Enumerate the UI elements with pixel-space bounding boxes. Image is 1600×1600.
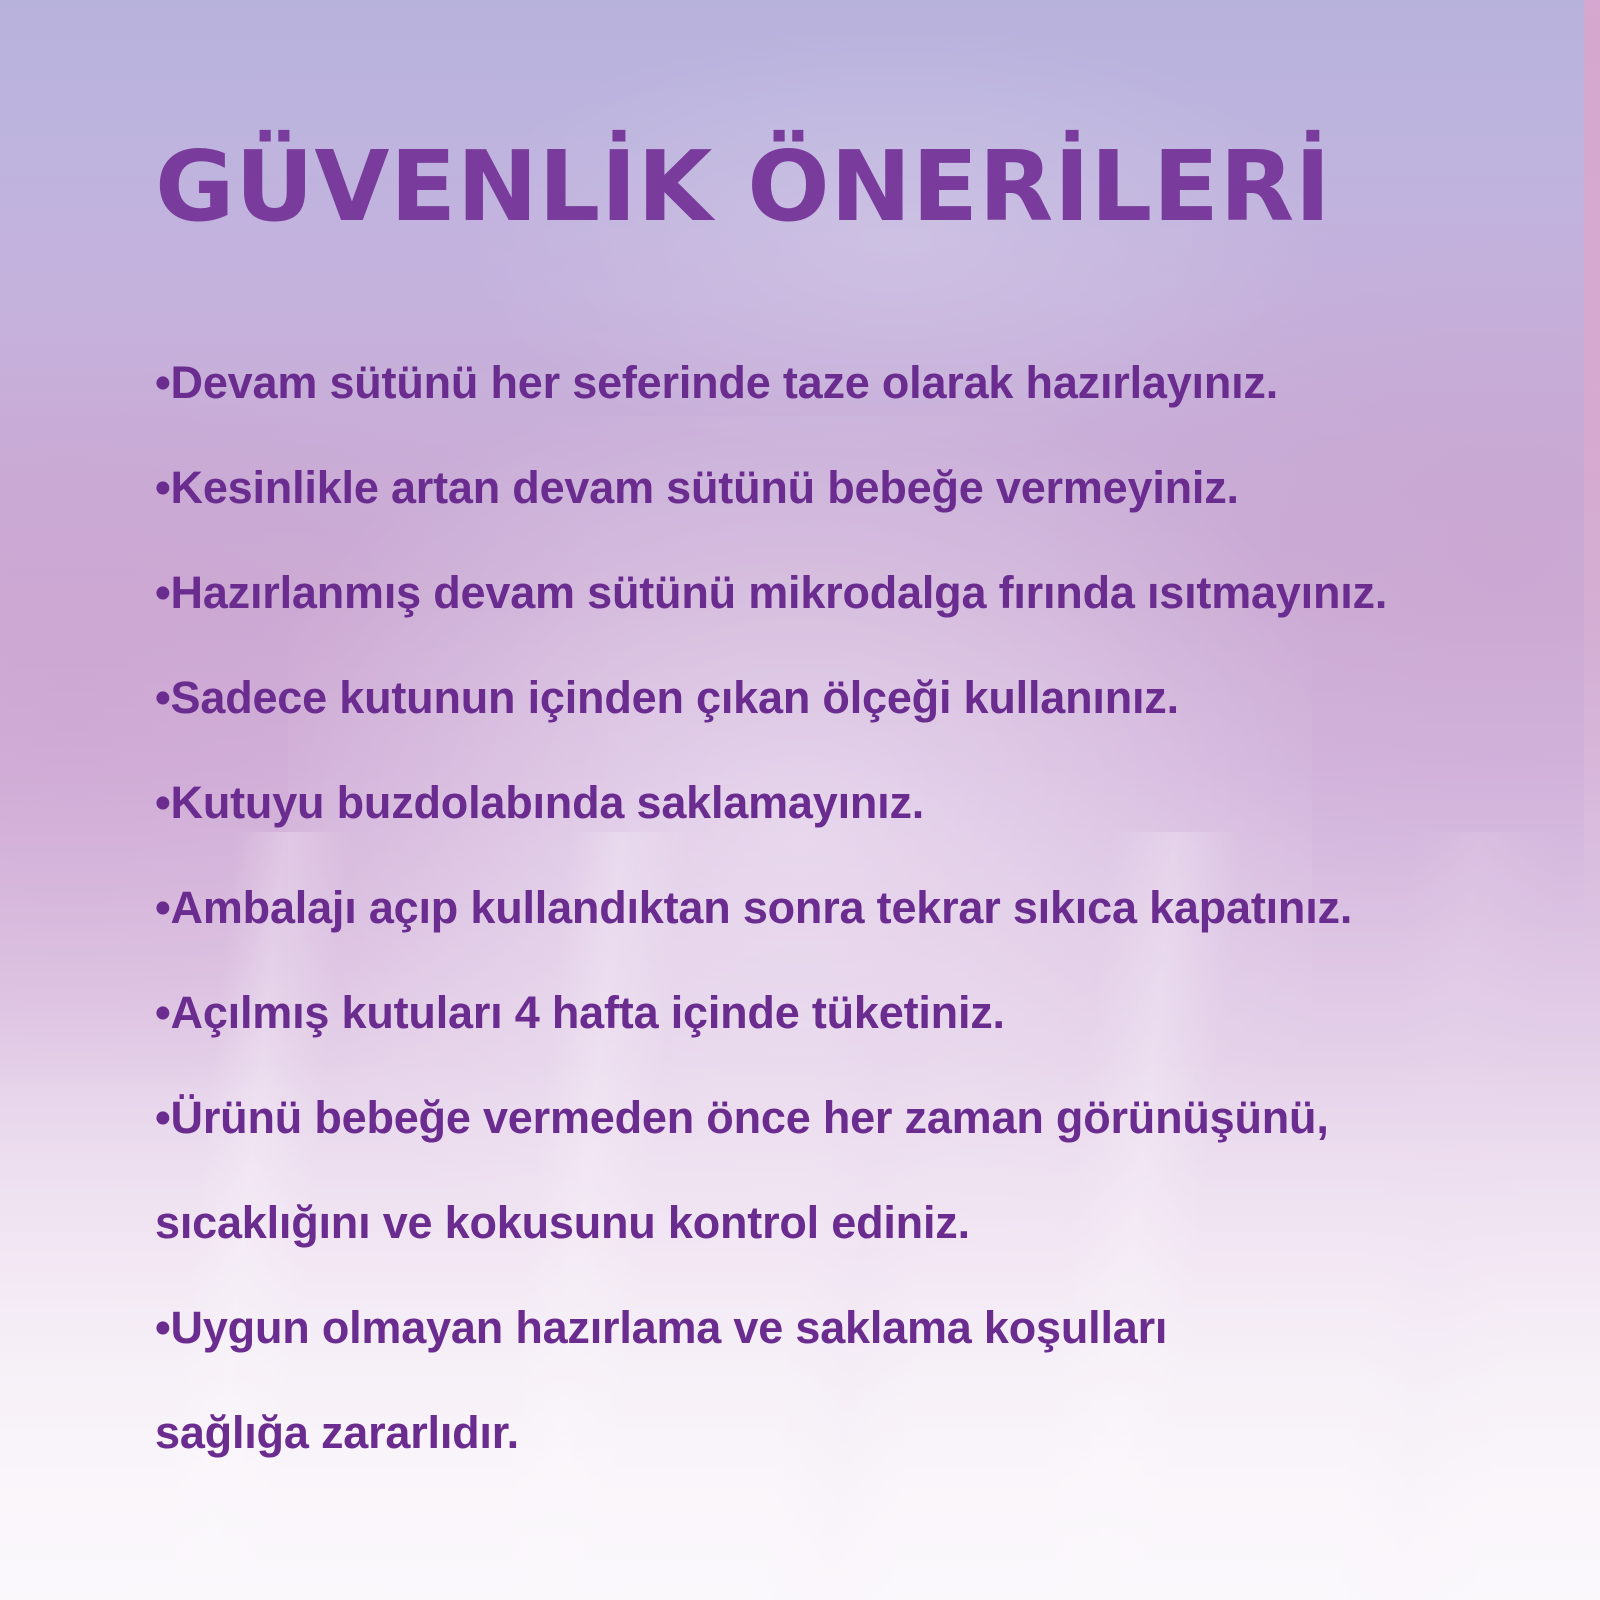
- list-item: •Ürünü bebeğe vermeden önce her zaman gö…: [0, 1065, 1600, 1170]
- list-item: •Hazırlanmış devam sütünü mikrodalga fır…: [0, 540, 1600, 645]
- bullet-continuation-line: sağlığa zararlıdır.: [0, 1380, 1600, 1485]
- bullet-text: •Sadece kutunun içinden çıkan ölçeği kul…: [155, 673, 1179, 723]
- bullet-continuation-line: sıcaklığını ve kokusunu kontrol ediniz.: [0, 1170, 1600, 1275]
- bullet-text: •Ambalajı açıp kullandıktan sonra tekrar…: [155, 883, 1352, 933]
- safety-bullet-list: •Devam sütünü her seferinde taze olarak …: [0, 330, 1600, 1485]
- bullet-text: sıcaklığını ve kokusunu kontrol ediniz.: [155, 1198, 970, 1248]
- bullet-text: •Kutuyu buzdolabında saklamayınız.: [155, 778, 924, 828]
- list-item: •Ambalajı açıp kullandıktan sonra tekrar…: [0, 855, 1600, 960]
- bullet-text: •Kesinlikle artan devam sütünü bebeğe ve…: [155, 463, 1239, 513]
- list-item: •Uygun olmayan hazırlama ve saklama koşu…: [0, 1275, 1600, 1380]
- bullet-text: •Açılmış kutuları 4 hafta içinde tüketin…: [155, 988, 1005, 1038]
- list-item: •Açılmış kutuları 4 hafta içinde tüketin…: [0, 960, 1600, 1065]
- poster-content: GÜVENLİK ÖNERİLERİ •Devam sütünü her sef…: [0, 0, 1600, 1600]
- safety-recommendations-poster: GÜVENLİK ÖNERİLERİ •Devam sütünü her sef…: [0, 0, 1600, 1600]
- page-title: GÜVENLİK ÖNERİLERİ: [155, 136, 1331, 238]
- list-item: •Sadece kutunun içinden çıkan ölçeği kul…: [0, 645, 1600, 750]
- bullet-text: •Hazırlanmış devam sütünü mikrodalga fır…: [155, 568, 1387, 618]
- list-item: •Devam sütünü her seferinde taze olarak …: [0, 330, 1600, 435]
- bullet-text: •Ürünü bebeğe vermeden önce her zaman gö…: [155, 1093, 1329, 1143]
- list-item: •Kutuyu buzdolabında saklamayınız.: [0, 750, 1600, 855]
- bullet-text: sağlığa zararlıdır.: [155, 1408, 519, 1458]
- bullet-text: •Devam sütünü her seferinde taze olarak …: [155, 358, 1278, 408]
- bullet-text: •Uygun olmayan hazırlama ve saklama koşu…: [155, 1303, 1167, 1353]
- list-item: •Kesinlikle artan devam sütünü bebeğe ve…: [0, 435, 1600, 540]
